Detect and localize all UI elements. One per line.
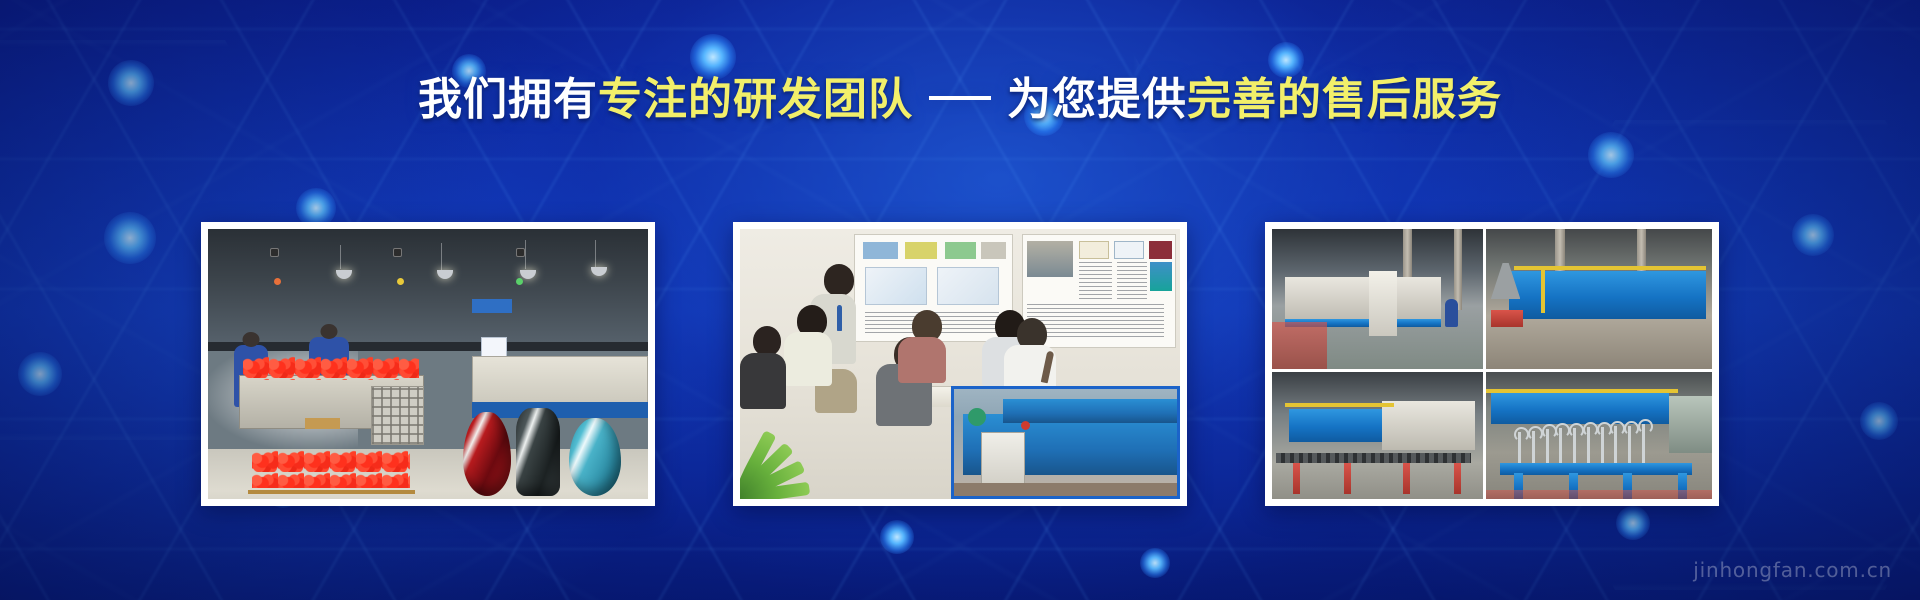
network-node-glow	[690, 34, 736, 80]
headline-segment-yellow-1: 专注的研发团队	[598, 75, 913, 124]
hanger-hook	[1628, 426, 1631, 466]
promo-banner: 我们拥有专注的研发团队为您提供完善的售后服务	[0, 0, 1920, 600]
machine-label-plate	[472, 299, 512, 313]
production-line-collage-photo	[1272, 229, 1712, 499]
headline-segment-white-1: 我们拥有	[418, 75, 598, 124]
blue-production-line	[1003, 399, 1177, 423]
conveyor-support	[1403, 463, 1410, 494]
network-node-glow	[1140, 548, 1170, 578]
green-wheel	[968, 408, 986, 426]
banner-headline: 我们拥有专注的研发团队为您提供完善的售后服务	[0, 78, 1920, 122]
hanger-hook	[1559, 428, 1562, 466]
network-node-glow	[1268, 42, 1304, 78]
person-seated	[898, 337, 946, 383]
floor-marking	[1272, 322, 1327, 370]
factory-photo-thumbnail	[1027, 241, 1073, 277]
hanger-hook	[1601, 427, 1604, 466]
machinery-inset-photo	[951, 386, 1180, 499]
collage-grid	[1272, 229, 1712, 499]
collage-cell-tunnel-furnace	[1272, 229, 1483, 369]
lamp-wire	[595, 240, 596, 267]
team-meeting-photo	[740, 229, 1180, 499]
network-node-glow	[880, 520, 914, 554]
person-seated	[740, 353, 786, 409]
site-watermark: jinhongfan.com.cn	[1693, 558, 1892, 582]
indicator-led	[274, 278, 281, 285]
red-glass-products-tray	[243, 356, 419, 380]
control-gauge	[516, 248, 525, 257]
person-head	[824, 264, 854, 296]
certificate-thumbnail	[1114, 241, 1144, 259]
gas-pipe-riser	[1541, 266, 1545, 314]
person-head	[753, 326, 781, 356]
wooden-stool	[305, 418, 340, 429]
hanger-hook	[1587, 427, 1590, 466]
poster-thumbnail	[905, 242, 936, 259]
factory-roof	[208, 229, 648, 342]
poster-text-lines	[1117, 262, 1147, 300]
photo-panel-right[interactable]: 自动化生产线组图 — 隧道炉、输送链与喷涂挂具线	[1265, 222, 1719, 506]
factory-column	[1454, 229, 1462, 310]
collage-cell-blue-tunnel	[1486, 229, 1712, 369]
white-cabinet	[1369, 271, 1396, 336]
machine-base	[1491, 310, 1523, 327]
control-gauge	[270, 248, 279, 257]
chain-conveyor	[1276, 453, 1470, 463]
furnace-body	[1285, 277, 1441, 322]
blue-tunnel-oven	[1509, 271, 1706, 319]
oven-end-wall	[1382, 401, 1475, 450]
collage-cell-hanger-line	[1486, 372, 1712, 499]
technical-diagram	[937, 267, 1000, 305]
hanger-hook	[1518, 432, 1521, 466]
conveyor-support	[1293, 463, 1300, 494]
poster-thumbnail	[981, 242, 1006, 259]
plastic-crate	[371, 386, 424, 445]
photo-panel-middle[interactable]: 技术交流会议 — 研发团队与客户洽谈，墙面展示工艺图表	[733, 222, 1187, 506]
dark-glass-vase	[516, 408, 560, 496]
poster-text-lines	[1027, 304, 1164, 337]
poster-thumbnail	[945, 242, 976, 259]
end-cabinet	[1669, 396, 1712, 453]
red-valve	[1021, 421, 1030, 430]
poster-thumbnail	[1149, 241, 1172, 259]
lamp-wire	[441, 243, 442, 270]
network-node-glow	[1616, 506, 1650, 540]
headline-divider-dash	[929, 96, 991, 100]
overhead-rail	[1486, 389, 1678, 393]
diagram-thumbnail	[1150, 262, 1171, 291]
hanger-hook	[1546, 429, 1549, 465]
factory-production-photo	[208, 229, 648, 499]
poster-thumbnail	[863, 242, 897, 259]
poster-text-lines	[1079, 262, 1112, 300]
blue-oven-section	[1289, 409, 1390, 443]
photo-panel-left[interactable]: 工厂生产车间 — 工人检验红色玻璃制品与彩色花瓶	[201, 222, 655, 506]
photo-panel-row: 工厂生产车间 — 工人检验红色玻璃制品与彩色花瓶	[0, 222, 1920, 506]
overhead-rail	[1285, 403, 1395, 407]
conveyor-support	[1344, 463, 1351, 494]
network-node-glow	[1588, 132, 1634, 178]
palm-plant	[740, 409, 856, 499]
person-lanyard	[837, 305, 842, 331]
conveyor-support	[1454, 463, 1461, 494]
hanger-conveyor-frame	[1500, 463, 1692, 475]
headline-segment-white-2: 为您提供	[1007, 75, 1187, 124]
lamp-wire	[340, 245, 341, 269]
red-glass-products-pile	[252, 450, 410, 488]
indicator-led	[516, 278, 523, 285]
control-gauge	[393, 248, 402, 257]
floor-strip	[954, 483, 1177, 496]
collage-cell-conveyor-chain	[1272, 372, 1483, 499]
tunnel-blue-base	[472, 402, 648, 418]
indicator-led	[397, 278, 404, 285]
technical-diagram	[865, 267, 928, 305]
floor-marking	[1486, 490, 1712, 499]
product-shelf-edge	[248, 490, 415, 494]
hanger-hook	[1573, 428, 1576, 466]
blue-glass-vase	[569, 418, 621, 496]
hanger-hook	[1532, 431, 1535, 466]
red-glass-vase	[463, 412, 511, 496]
worker-in-blue	[1445, 299, 1458, 327]
person-seated	[784, 332, 832, 386]
hanger-hook	[1614, 426, 1617, 466]
certificate-thumbnail	[1079, 241, 1109, 259]
hanger-hook	[1642, 424, 1645, 465]
headline-segment-yellow-2: 完善的售后服务	[1187, 75, 1502, 124]
